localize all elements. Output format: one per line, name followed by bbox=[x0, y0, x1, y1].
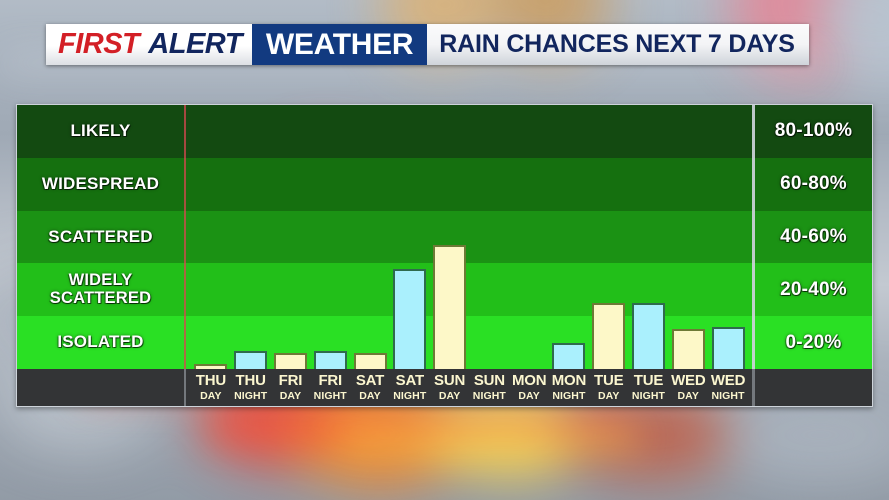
axis-tick-daypart: DAY bbox=[200, 391, 222, 402]
axis-tick: SUNDAY bbox=[430, 373, 470, 402]
rain-chance-bar[interactable] bbox=[194, 364, 227, 369]
bar-slot bbox=[310, 105, 350, 369]
banner-weather-segment: WEATHER bbox=[252, 24, 427, 65]
brand-first-text: FIRST bbox=[58, 30, 139, 59]
axis-tick-day: SAT bbox=[356, 373, 384, 389]
axis-tick-labels: THUDAYTHUNIGHTFRIDAYFRINIGHTSATDAYSATNIG… bbox=[186, 369, 752, 406]
rain-chance-bar[interactable] bbox=[592, 303, 625, 369]
axis-tick: THUNIGHT bbox=[231, 373, 271, 402]
band-percent-range: 20-40% bbox=[755, 263, 872, 316]
band-label: ISOLATED bbox=[17, 316, 184, 369]
banner-headline-segment: RAIN CHANCES NEXT 7 DAYS bbox=[427, 24, 808, 65]
bar-slot bbox=[430, 105, 470, 369]
brand-alert-text: ALERT bbox=[148, 30, 242, 59]
bar-slot bbox=[708, 105, 748, 369]
band-percent-range: 0-20% bbox=[755, 316, 872, 369]
band-percent-range: 60-80% bbox=[755, 158, 872, 211]
band-label: LIKELY bbox=[17, 105, 184, 158]
rain-chance-bar[interactable] bbox=[672, 329, 705, 369]
rain-chance-bar[interactable] bbox=[234, 351, 267, 369]
axis-tick: SATNIGHT bbox=[390, 373, 430, 402]
banner-brand-segment: FIRST ALERT bbox=[46, 24, 252, 65]
axis-tick-day: THU bbox=[236, 373, 266, 389]
bar-slot bbox=[191, 105, 231, 369]
axis-tick-day: SUN bbox=[474, 373, 505, 389]
bar-slot bbox=[271, 105, 311, 369]
axis-tick: MONDAY bbox=[509, 373, 549, 402]
bar-slot bbox=[469, 105, 509, 369]
brand-weather-text: WEATHER bbox=[266, 30, 413, 60]
band-label: WIDELY SCATTERED bbox=[17, 263, 184, 316]
axis-right-spacer bbox=[752, 369, 872, 406]
axis-tick-daypart: NIGHT bbox=[393, 391, 426, 402]
rain-chance-bar[interactable] bbox=[314, 351, 347, 369]
rain-chance-bar[interactable] bbox=[552, 343, 585, 369]
rain-chance-bar[interactable] bbox=[712, 327, 745, 369]
bar-slot bbox=[589, 105, 629, 369]
axis-tick-daypart: DAY bbox=[280, 391, 302, 402]
axis-tick: FRINIGHT bbox=[310, 373, 350, 402]
axis-tick-day: MON bbox=[512, 373, 546, 389]
axis-tick-daypart: NIGHT bbox=[552, 391, 585, 402]
band-percent-range: 80-100% bbox=[755, 105, 872, 158]
headline-text: RAIN CHANCES NEXT 7 DAYS bbox=[439, 32, 794, 57]
axis-tick-day: TUE bbox=[634, 373, 663, 389]
axis-tick-day: SUN bbox=[434, 373, 465, 389]
axis-left-spacer bbox=[17, 369, 186, 406]
rain-chance-bar[interactable] bbox=[354, 353, 387, 369]
axis-tick: TUENIGHT bbox=[629, 373, 669, 402]
axis-tick-daypart: DAY bbox=[359, 391, 381, 402]
rain-chance-bar[interactable] bbox=[433, 245, 466, 369]
day-axis-footer: THUDAYTHUNIGHTFRIDAYFRINIGHTSATDAYSATNIG… bbox=[17, 369, 872, 406]
first-alert-weather-banner: FIRST ALERT WEATHER RAIN CHANCES NEXT 7 … bbox=[46, 24, 809, 65]
bar-slot bbox=[509, 105, 549, 369]
axis-tick-daypart: DAY bbox=[598, 391, 620, 402]
axis-tick: SUNNIGHT bbox=[469, 373, 509, 402]
axis-tick-daypart: DAY bbox=[518, 391, 540, 402]
axis-tick: THUDAY bbox=[191, 373, 231, 402]
band-label: WIDESPREAD bbox=[17, 158, 184, 211]
axis-tick: MONNIGHT bbox=[549, 373, 589, 402]
category-label-column: LIKELYWIDESPREADSCATTEREDWIDELY SCATTERE… bbox=[17, 105, 186, 369]
bar-slot bbox=[390, 105, 430, 369]
rain-chance-bar[interactable] bbox=[393, 269, 426, 369]
rain-chance-bar[interactable] bbox=[274, 353, 307, 369]
axis-tick-day: THU bbox=[196, 373, 226, 389]
bar-slot bbox=[549, 105, 589, 369]
rain-chance-bar[interactable] bbox=[632, 303, 665, 369]
axis-tick: TUEDAY bbox=[589, 373, 629, 402]
axis-tick-day: SAT bbox=[396, 373, 424, 389]
axis-tick-day: WED bbox=[671, 373, 705, 389]
axis-tick-day: FRI bbox=[279, 373, 303, 389]
axis-tick-daypart: DAY bbox=[439, 391, 461, 402]
bar-slot bbox=[231, 105, 271, 369]
axis-tick-day: MON bbox=[552, 373, 586, 389]
axis-tick-daypart: NIGHT bbox=[234, 391, 267, 402]
bar-plot-area bbox=[186, 105, 752, 369]
bar-slot bbox=[668, 105, 708, 369]
axis-tick-day: FRI bbox=[318, 373, 342, 389]
band-percent-range: 40-60% bbox=[755, 211, 872, 264]
axis-tick-daypart: NIGHT bbox=[314, 391, 347, 402]
bar-slot bbox=[629, 105, 669, 369]
rain-chance-chart-panel: LIKELYWIDESPREADSCATTEREDWIDELY SCATTERE… bbox=[16, 104, 873, 407]
chart-body: LIKELYWIDESPREADSCATTEREDWIDELY SCATTERE… bbox=[17, 105, 872, 369]
band-label: SCATTERED bbox=[17, 211, 184, 264]
bar-slot bbox=[350, 105, 390, 369]
axis-tick-day: WED bbox=[711, 373, 745, 389]
axis-tick: FRIDAY bbox=[271, 373, 311, 402]
percentage-range-column: 80-100%60-80%40-60%20-40%0-20% bbox=[752, 105, 872, 369]
axis-tick: WEDDAY bbox=[668, 373, 708, 402]
axis-tick-daypart: NIGHT bbox=[473, 391, 506, 402]
axis-tick-daypart: DAY bbox=[678, 391, 700, 402]
axis-tick-daypart: NIGHT bbox=[632, 391, 665, 402]
axis-tick: WEDNIGHT bbox=[708, 373, 748, 402]
axis-tick: SATDAY bbox=[350, 373, 390, 402]
axis-tick-day: TUE bbox=[594, 373, 623, 389]
axis-tick-daypart: NIGHT bbox=[711, 391, 744, 402]
